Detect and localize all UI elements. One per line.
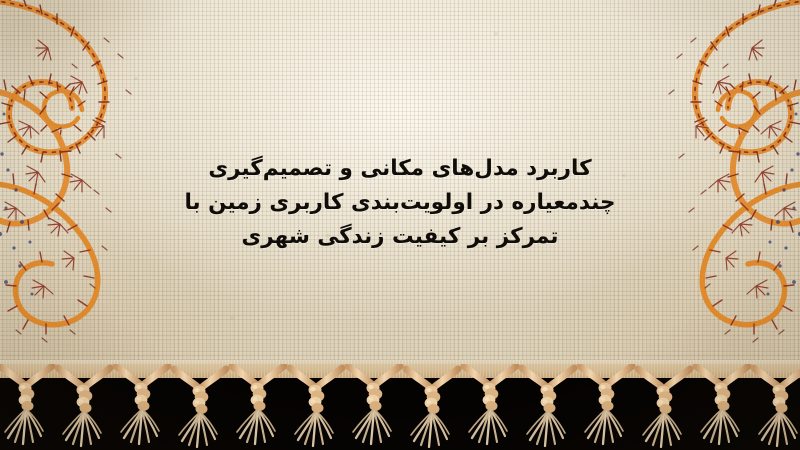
title-line-1: کاربرد مدل‌های مکانی و تصمیم‌گیری xyxy=(0,152,800,186)
title-slide: کاربرد مدل‌های مکانی و تصمیم‌گیری چندمعی… xyxy=(0,0,800,450)
title-line-2: چندمعیاره در اولویت‌بندی کاربری زمین با xyxy=(0,186,800,220)
page-title: کاربرد مدل‌های مکانی و تصمیم‌گیری چندمعی… xyxy=(0,152,800,254)
knotted-tassel-fringe xyxy=(0,364,800,450)
title-line-3: تمرکز بر کیفیت زندگی شهری xyxy=(0,220,800,254)
